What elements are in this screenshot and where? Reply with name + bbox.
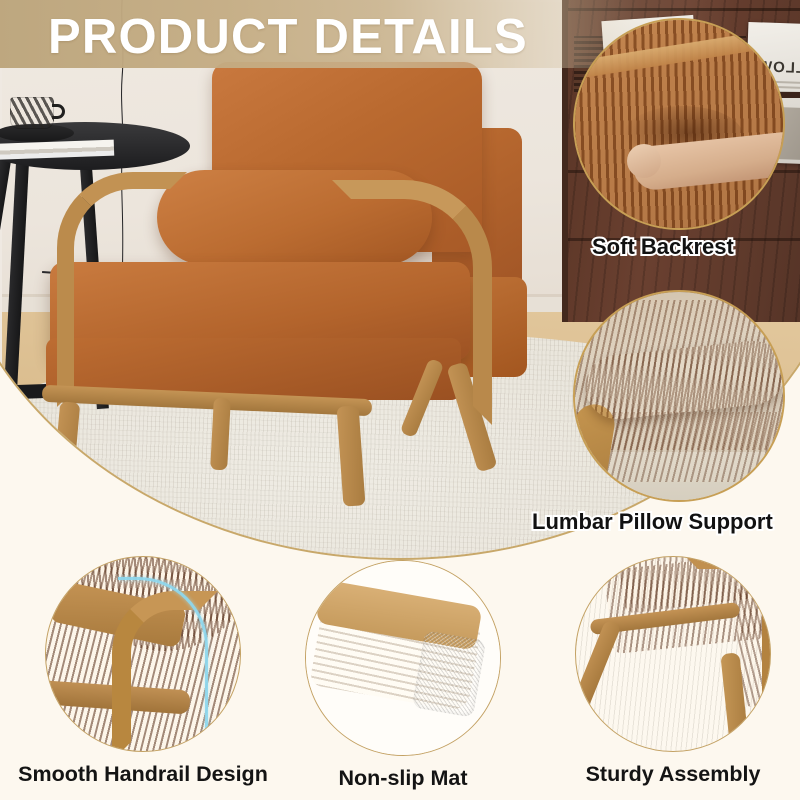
page-title: PRODUCT DETAILS — [48, 6, 528, 68]
chair-right-armrest — [332, 180, 492, 425]
chair-left-armrest — [57, 172, 187, 407]
patterned-mug — [10, 97, 54, 129]
callout-lumbar-pillow-support — [573, 290, 785, 502]
hand-knuckles — [627, 144, 661, 178]
chair-mid-leg — [210, 398, 231, 471]
feature-smooth-handrail-design: Smooth Handrail Design — [18, 556, 268, 787]
callout-label-soft-backrest: Soft Backrest — [592, 234, 734, 260]
feature-image-smooth-handrail — [45, 556, 241, 752]
feature-label-smooth-handrail-design: Smooth Handrail Design — [18, 762, 268, 787]
feature-image-sturdy-assembly — [575, 556, 771, 752]
feature-label-sturdy-assembly: Sturdy Assembly — [548, 762, 798, 787]
callout-soft-backrest — [573, 18, 785, 230]
product-details-infographic: FOLLOW — [0, 0, 800, 800]
feature-label-non-slip-mat: Non-slip Mat — [278, 766, 528, 791]
armchair — [62, 62, 532, 492]
callout-label-lumbar-pillow-support: Lumbar Pillow Support — [532, 509, 773, 535]
feature-image-non-slip-mat — [305, 560, 501, 756]
feature-non-slip-mat: Non-slip Mat — [278, 560, 528, 791]
feature-sturdy-assembly: Sturdy Assembly — [548, 556, 798, 787]
